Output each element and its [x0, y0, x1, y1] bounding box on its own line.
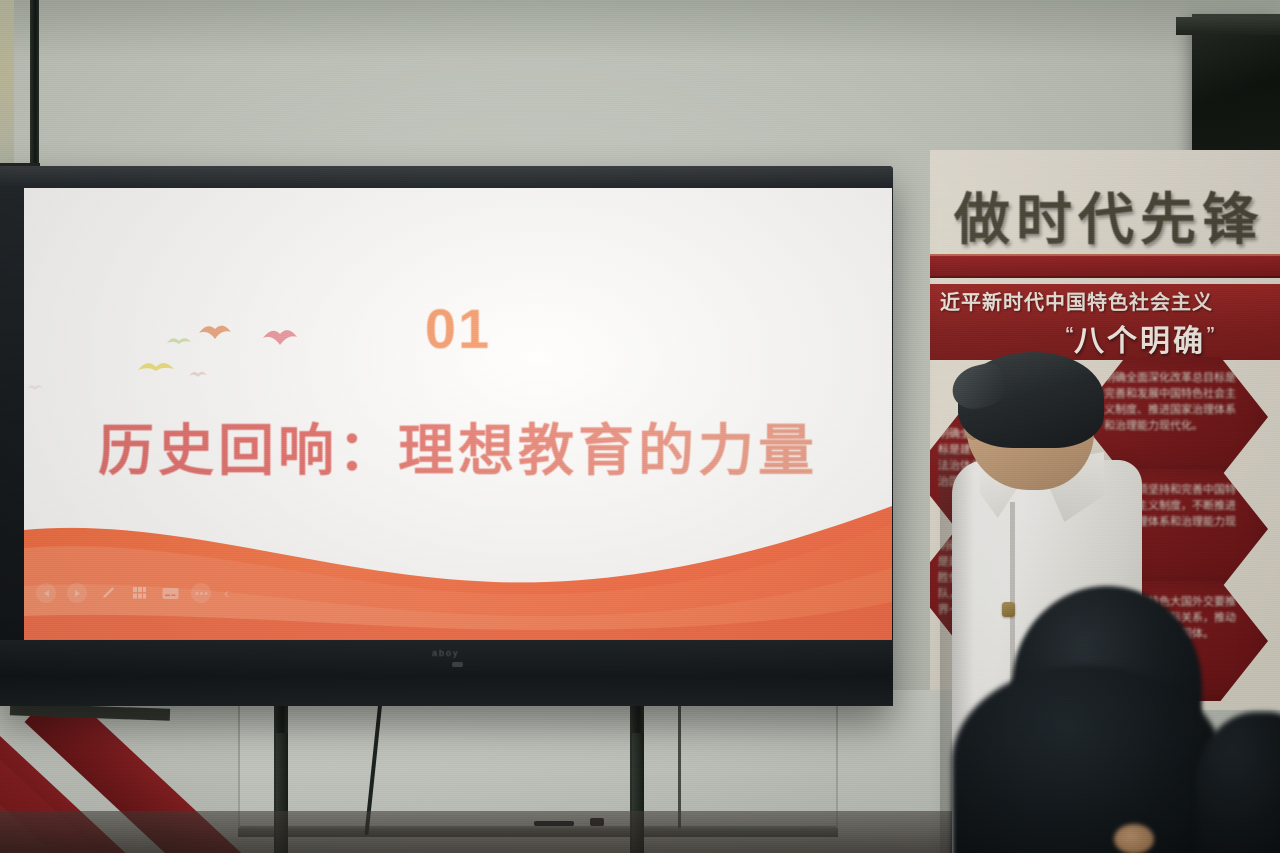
- ir-sensor: [452, 662, 463, 667]
- poster-subtitle-line-1: 近平新时代中国特色社会主义: [940, 286, 1280, 315]
- presentation-slide[interactable]: 01 历史回响：理想教育的力量: [24, 188, 892, 640]
- panel-screen[interactable]: 01 历史回响：理想教育的力量: [24, 188, 892, 640]
- interactive-flat-panel[interactable]: 01 历史回响：理想教育的力量: [0, 166, 893, 706]
- panel-bottom-bezel: aboy: [0, 640, 893, 706]
- subtitles-icon[interactable]: [160, 583, 180, 603]
- previous-slide-icon[interactable]: [36, 583, 56, 603]
- display-box-top-edge: [1176, 17, 1280, 35]
- next-slide-icon[interactable]: [67, 583, 87, 603]
- slide-wave-decoration: [24, 490, 892, 640]
- device-brand-mark: aboy: [432, 648, 460, 658]
- quote-close: ”: [1206, 324, 1215, 344]
- chevron-left-icon[interactable]: ‹: [224, 585, 229, 602]
- floor-shadow: [0, 811, 960, 853]
- ceiling-shadow: [0, 0, 1280, 60]
- presenter-badge-pin: [1002, 602, 1015, 617]
- classroom-scene: 做时代先锋 近平新时代中国特色社会主义 “八个明确” 明确全面深化改革总目标是完…: [0, 0, 1280, 853]
- audience-ear: [1114, 824, 1154, 853]
- poster-headline: 做时代先锋: [954, 175, 1264, 256]
- more-options-icon[interactable]: [191, 583, 211, 603]
- audience-head-foreground: [952, 666, 1224, 853]
- slide-number: 01: [24, 296, 892, 361]
- pen-icon[interactable]: [98, 583, 118, 603]
- slide-grid-icon[interactable]: [129, 583, 149, 603]
- wall-left-strip: [0, 0, 14, 176]
- presentation-toolbar[interactable]: ‹: [30, 580, 235, 606]
- poster-divider-bar: [930, 254, 1280, 278]
- bezel-highlight: [0, 166, 893, 188]
- slide-title: 历史回响：理想教育的力量: [24, 406, 892, 487]
- wall-post-top: [30, 0, 39, 172]
- quote-open: “: [1065, 324, 1074, 344]
- back-wall-area: [0, 690, 960, 853]
- wall-mounted-display-box: [1192, 14, 1280, 166]
